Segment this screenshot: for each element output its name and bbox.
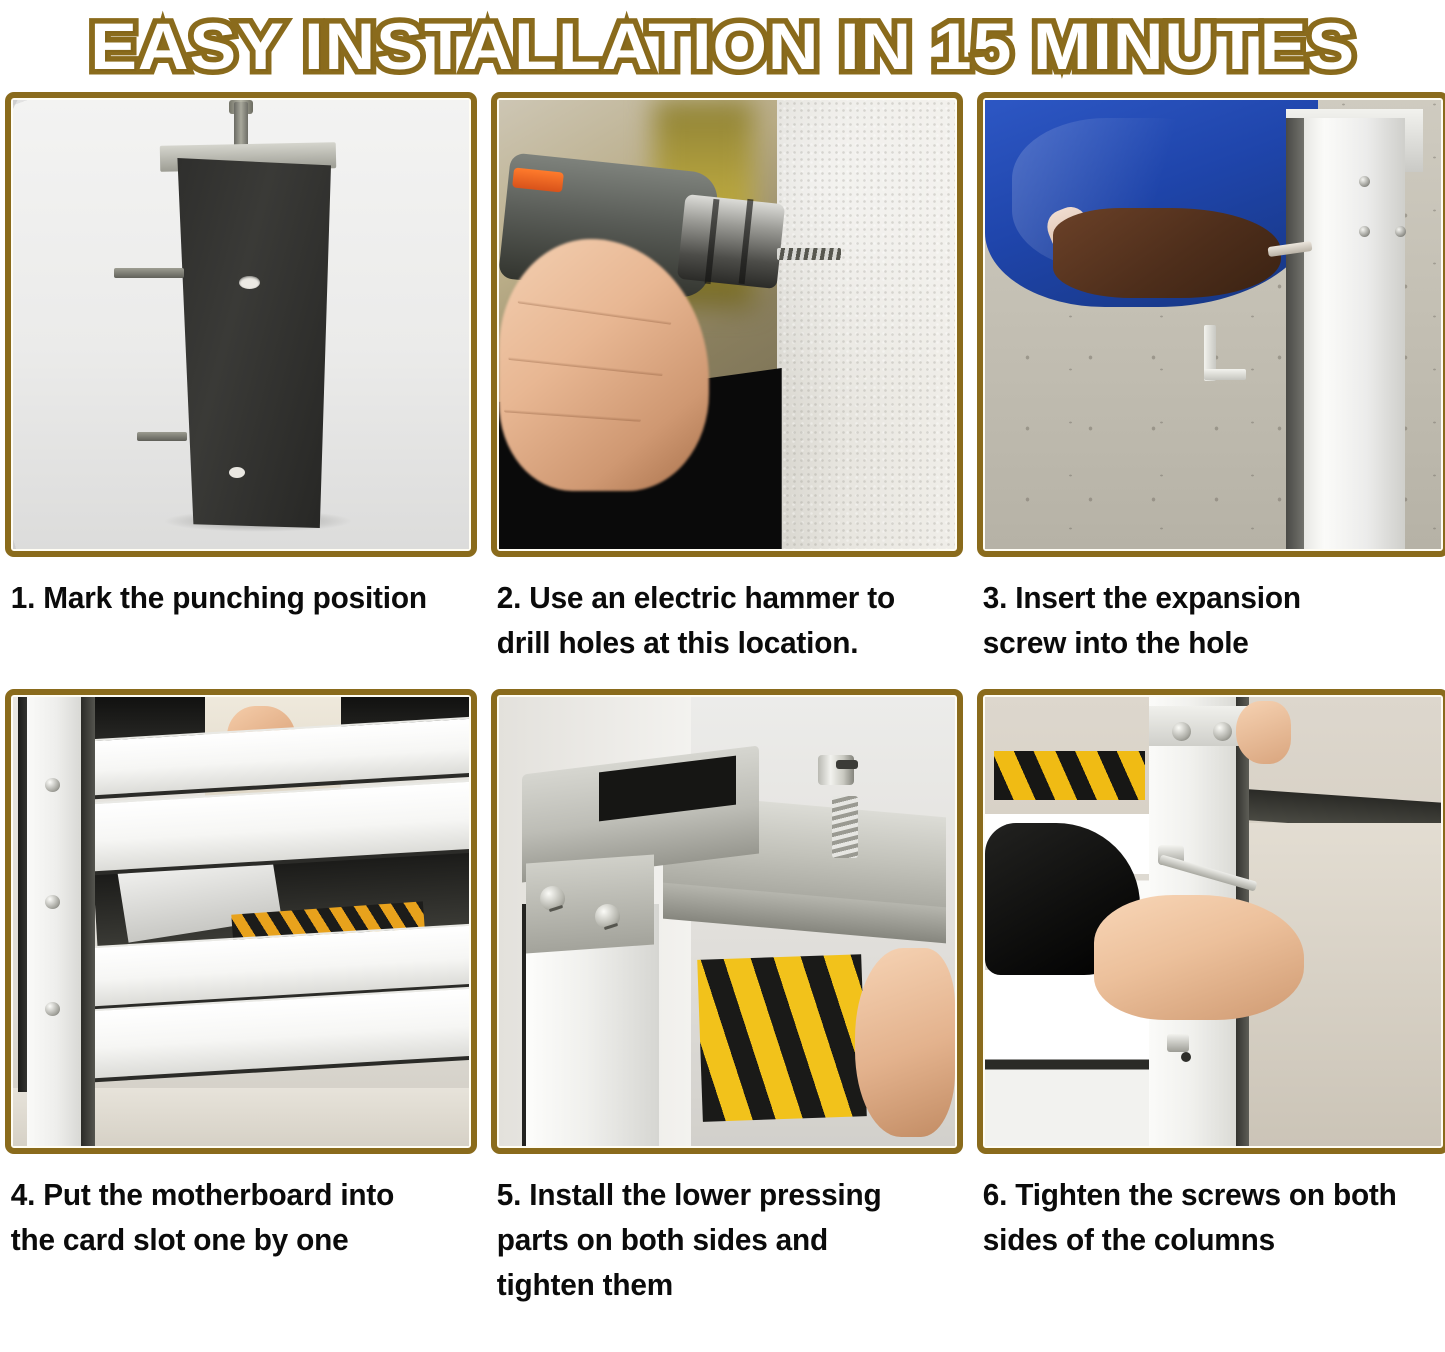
bolt-thread (832, 796, 858, 858)
step-image-frame-5 (491, 689, 963, 1154)
step-photo-6 (985, 697, 1441, 1146)
white-column (1304, 118, 1404, 549)
expansion-screw-b (1359, 226, 1370, 237)
step-caption-6: 6. Tighten the screws on both sides of t… (977, 1172, 1430, 1262)
allen-key-foot (1204, 369, 1246, 380)
lower-column-bolt (1167, 1034, 1189, 1052)
drill-chuck (677, 194, 786, 289)
step-caption-3: 3. Insert the expansion screw into the h… (977, 575, 1430, 665)
bolt-hex-socket (836, 760, 858, 769)
step-image-frame-6 (977, 689, 1445, 1154)
post-inner-edge (81, 697, 95, 1146)
step-card-3: 3. Insert the expansion screw into the h… (977, 92, 1445, 665)
step-image-frame-4 (5, 689, 477, 1154)
step-caption-1: 1. Mark the punching position (5, 575, 458, 620)
drill-bit (777, 248, 841, 260)
column-top-cap (1149, 706, 1249, 746)
mounting-hole-lower (229, 467, 245, 478)
step-card-5: 5. Install the lower pressing parts on b… (491, 689, 963, 1307)
step-photo-4 (13, 697, 469, 1146)
mounting-hole-upper (239, 276, 260, 289)
side-stud-lower (137, 432, 187, 441)
supporting-hand (1236, 701, 1291, 764)
hazard-stripe-tape (994, 751, 1144, 800)
steps-grid: 1. Mark the punching position (0, 92, 1445, 1307)
installer-hand (1094, 895, 1304, 1021)
step-caption-4: 4. Put the motherboard into the card slo… (5, 1172, 458, 1262)
wall-texture (777, 100, 955, 549)
step-caption-5: 5. Install the lower pressing parts on b… (491, 1172, 944, 1307)
step-photo-3 (985, 100, 1441, 549)
step-photo-2 (499, 100, 955, 549)
step-caption-2: 2. Use an electric hammer to drill holes… (491, 575, 944, 665)
card-slot-post (27, 697, 86, 1146)
post-bolt-2 (45, 895, 60, 909)
title-banner: EASY INSTALLATION IN 15 MINUTES (0, 0, 1445, 92)
installer-thumb (855, 948, 955, 1137)
worker-arm (1053, 208, 1281, 298)
top-bolt-shaft (234, 102, 248, 150)
column-base-body (171, 158, 331, 528)
step-photo-1 (13, 100, 469, 549)
lower-bolt-socket (1181, 1052, 1191, 1062)
step-card-6: 6. Tighten the screws on both sides of t… (977, 689, 1445, 1307)
steps-row-bottom: 4. Put the motherboard into the card slo… (0, 689, 1445, 1307)
column-cap-screw-2 (1213, 722, 1232, 741)
post-bolt-1 (45, 778, 60, 792)
page-title: EASY INSTALLATION IN 15 MINUTES (84, 11, 1362, 81)
step-image-frame-1 (5, 92, 477, 557)
steps-row-top: 1. Mark the punching position (0, 92, 1445, 665)
step-card-1: 1. Mark the punching position (5, 92, 477, 665)
step-image-frame-2 (491, 92, 963, 557)
step-card-2: 2. Use an electric hammer to drill holes… (491, 92, 963, 665)
side-stud-upper (114, 268, 184, 278)
step-image-frame-3 (977, 92, 1445, 557)
step-card-4: 4. Put the motherboard into the card slo… (5, 689, 477, 1307)
hazard-stripe-tape (697, 955, 867, 1122)
column-cap-screw-1 (1172, 722, 1191, 741)
step-photo-5 (499, 697, 955, 1146)
